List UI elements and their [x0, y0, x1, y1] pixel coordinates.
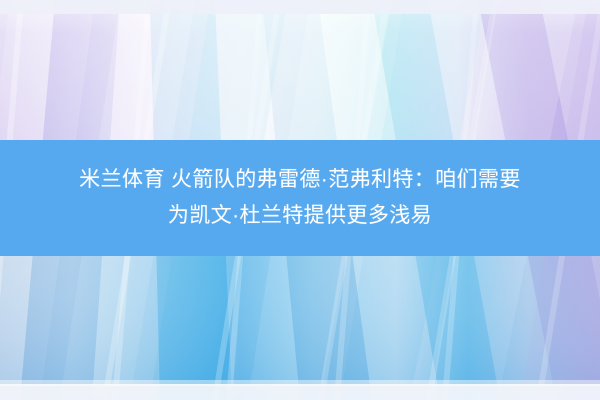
- bottom-edge-strip: [0, 384, 600, 400]
- top-edge-strip: [0, 0, 600, 14]
- bottom-edge-fade: [0, 380, 600, 386]
- banner-image: 米兰体育 火箭队的弗雷德·范弗利特：咱们需要 为凯文·杜兰特提供更多浅易: [0, 0, 600, 400]
- headline-band: 米兰体育 火箭队的弗雷德·范弗利特：咱们需要 为凯文·杜兰特提供更多浅易: [0, 140, 600, 256]
- headline-text: 米兰体育 火箭队的弗雷德·范弗利特：咱们需要 为凯文·杜兰特提供更多浅易: [79, 162, 521, 234]
